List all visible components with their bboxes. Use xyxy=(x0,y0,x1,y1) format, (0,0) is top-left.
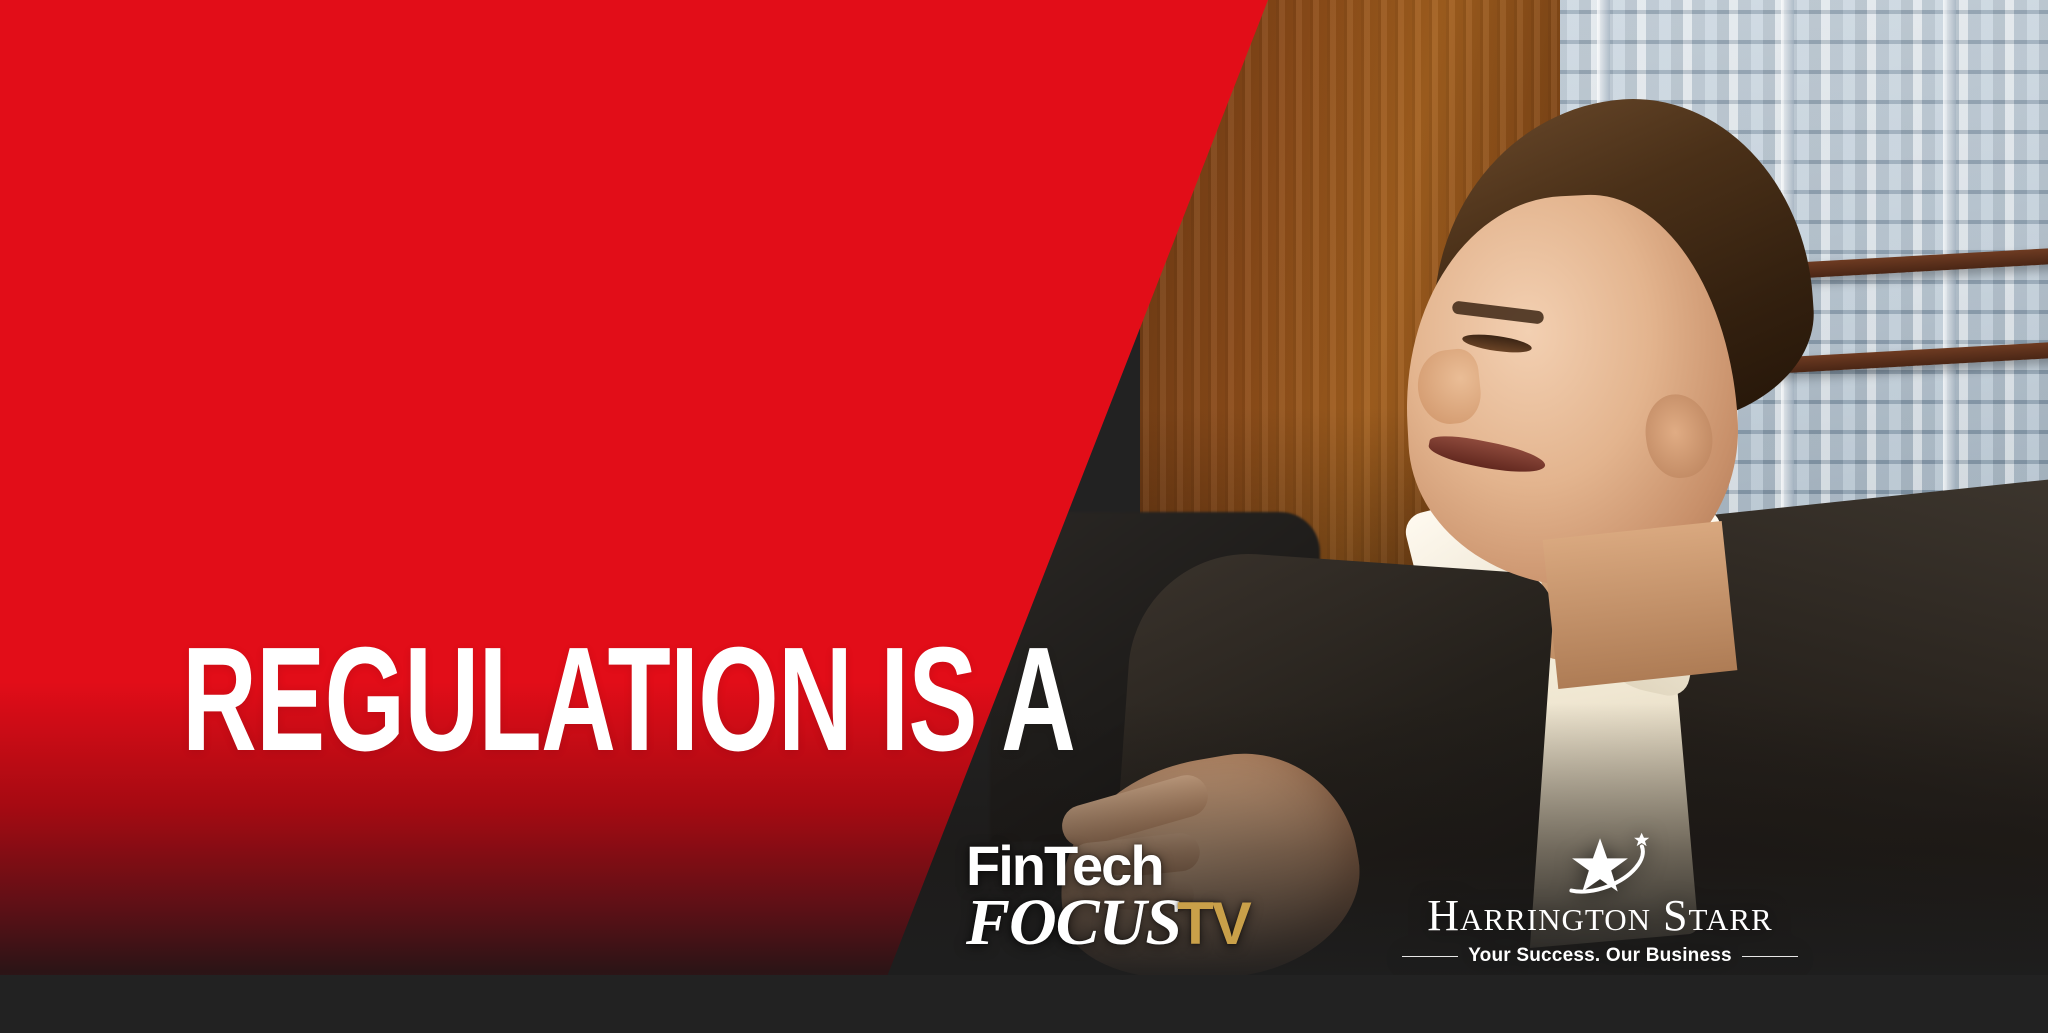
tv-wordmark: TV xyxy=(1177,894,1250,954)
neck xyxy=(1543,521,1738,689)
bottom-bar xyxy=(0,975,2048,1033)
star-swoosh-icon xyxy=(1390,832,1810,894)
harrington-starr-tagline: Your Success. Our Business xyxy=(1468,945,1732,967)
harrington-starr-logo: Harrington Starr Your Success. Our Busin… xyxy=(1390,832,1810,962)
focus-wordmark: FOCUS xyxy=(966,890,1181,956)
harrington-starr-tagline-row: Your Success. Our Business xyxy=(1390,945,1810,967)
fintech-focus-tv-logo: FinTech FOCUS TV xyxy=(966,838,1276,968)
tagline-rule-right xyxy=(1742,956,1798,957)
focus-tv-row: FOCUS TV xyxy=(966,890,1276,956)
harrington-starr-name: Harrington Starr xyxy=(1390,894,1810,938)
headline-line-1: REGULATION IS A xyxy=(182,630,1075,769)
headline: REGULATION IS A CONTACT SPORT xyxy=(182,352,1075,1033)
tagline-rule-left xyxy=(1402,956,1458,957)
subject-head xyxy=(1400,100,1830,600)
video-thumbnail: REGULATION IS A CONTACT SPORT FinTech FO… xyxy=(0,0,2048,1033)
